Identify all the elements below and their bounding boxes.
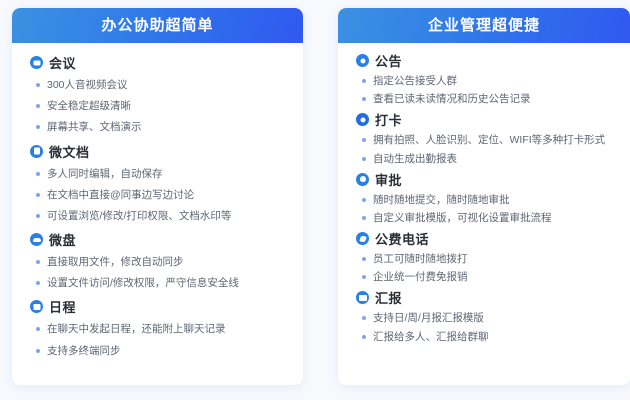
list-item-text: 查看已读未读情况和历史公告记录 bbox=[373, 92, 531, 106]
list-item-text: 在聊天中发起日程，还能附上聊天记录 bbox=[47, 322, 226, 336]
group-label: 微盘 bbox=[49, 230, 76, 249]
list-item-text: 自定义审批模版，可视化设置审批流程 bbox=[373, 211, 552, 225]
feature-group-clock-in: 打卡 拥有拍照、人脸识别、定位、WIFI等多种打卡形式 自动生成出勤报表 bbox=[356, 110, 620, 165]
list-item: 多人同时编辑，自动保存 bbox=[36, 167, 293, 181]
group-title: 审批 bbox=[356, 170, 620, 189]
cloud-icon bbox=[30, 233, 43, 246]
list-item-text: 300人音视频会议 bbox=[47, 78, 128, 92]
list-item: 员工可随时随地拨打 bbox=[362, 252, 620, 266]
list-item: 在聊天中发起日程，还能附上聊天记录 bbox=[36, 322, 293, 336]
bullet-icon bbox=[362, 97, 366, 101]
bullet-icon bbox=[362, 157, 366, 161]
card-header-title: 企业管理超便捷 bbox=[338, 8, 630, 43]
feature-list: 支持日/周/月报汇报模版 汇报给多人、汇报给群聊 bbox=[356, 311, 620, 343]
feature-group-schedule: 日程 在聊天中发起日程，还能附上聊天记录 支持多终端同步 bbox=[30, 297, 293, 357]
list-item-text: 直接取用文件，修改自动同步 bbox=[47, 255, 184, 269]
list-item: 指定公告接受人群 bbox=[362, 74, 620, 88]
card-header-title: 办公协助超简单 bbox=[12, 8, 303, 43]
list-item-text: 安全稳定超级清晰 bbox=[47, 99, 131, 113]
bullet-icon bbox=[36, 193, 40, 197]
list-item: 在文档中直接@同事边写边讨论 bbox=[36, 188, 293, 202]
bullet-icon bbox=[36, 214, 40, 218]
group-title: 汇报 bbox=[356, 288, 620, 307]
feature-group-announcement: 公告 指定公告接受人群 查看已读未读情况和历史公告记录 bbox=[356, 51, 620, 106]
feature-list: 拥有拍照、人脸识别、定位、WIFI等多种打卡形式 自动生成出勤报表 bbox=[356, 133, 620, 165]
list-item: 300人音视频会议 bbox=[36, 78, 293, 92]
group-title: 日程 bbox=[30, 297, 293, 316]
document-icon bbox=[30, 145, 43, 158]
bullet-icon bbox=[36, 172, 40, 176]
phone-icon bbox=[356, 232, 369, 245]
group-label: 审批 bbox=[375, 170, 402, 189]
bullet-icon bbox=[362, 216, 366, 220]
group-label: 公告 bbox=[375, 51, 402, 70]
bullet-icon bbox=[36, 104, 40, 108]
feature-group-document: 微文档 多人同时编辑，自动保存 在文档中直接@同事边写边讨论 可设置浏览/修改/… bbox=[30, 142, 293, 224]
feature-list: 指定公告接受人群 查看已读未读情况和历史公告记录 bbox=[356, 74, 620, 106]
list-item: 查看已读未读情况和历史公告记录 bbox=[362, 92, 620, 106]
group-title: 微文档 bbox=[30, 142, 293, 161]
list-item: 设置文件访问/修改权限，严守信息安全线 bbox=[36, 276, 293, 290]
card-body: 会议 300人音视频会议 安全稳定超级清晰 屏幕共享、文档演示 微文档 多人同时… bbox=[12, 43, 303, 385]
bullet-icon bbox=[36, 327, 40, 331]
list-item: 汇报给多人、汇报给群聊 bbox=[362, 330, 620, 344]
group-title: 会议 bbox=[30, 53, 293, 72]
bullet-icon bbox=[362, 316, 366, 320]
feature-list: 多人同时编辑，自动保存 在文档中直接@同事边写边讨论 可设置浏览/修改/打印权限… bbox=[30, 167, 293, 224]
group-label: 汇报 bbox=[375, 288, 402, 307]
approval-icon bbox=[356, 173, 369, 186]
bullet-icon bbox=[362, 79, 366, 83]
list-item: 可设置浏览/修改/打印权限、文档水印等 bbox=[36, 209, 293, 223]
list-item: 企业统一付费免报销 bbox=[362, 270, 620, 284]
meeting-icon bbox=[30, 56, 43, 69]
bullet-icon bbox=[36, 83, 40, 87]
list-item: 自动生成出勤报表 bbox=[362, 152, 620, 166]
report-icon bbox=[356, 291, 369, 304]
feature-list: 直接取用文件，修改自动同步 设置文件访问/修改权限，严守信息安全线 bbox=[30, 255, 293, 290]
feature-list: 300人音视频会议 安全稳定超级清晰 屏幕共享、文档演示 bbox=[30, 78, 293, 135]
list-item: 支持日/周/月报汇报模版 bbox=[362, 311, 620, 325]
feature-group-company-phone: 公费电话 员工可随时随地拨打 企业统一付费免报销 bbox=[356, 229, 620, 284]
feature-group-meeting: 会议 300人音视频会议 安全稳定超级清晰 屏幕共享、文档演示 bbox=[30, 53, 293, 135]
list-item: 直接取用文件，修改自动同步 bbox=[36, 255, 293, 269]
group-title: 打卡 bbox=[356, 110, 620, 129]
card-office-collaboration: 办公协助超简单 会议 300人音视频会议 安全稳定超级清晰 屏幕共享、文档演示 … bbox=[12, 8, 303, 385]
bullet-icon bbox=[36, 281, 40, 285]
feature-group-cloud-disk: 微盘 直接取用文件，修改自动同步 设置文件访问/修改权限，严守信息安全线 bbox=[30, 230, 293, 290]
group-title: 公告 bbox=[356, 51, 620, 70]
group-label: 公费电话 bbox=[375, 229, 429, 248]
list-item-text: 屏幕共享、文档演示 bbox=[47, 120, 142, 134]
bullet-icon bbox=[362, 198, 366, 202]
bullet-icon bbox=[362, 257, 366, 261]
bullet-icon bbox=[362, 275, 366, 279]
list-item-text: 支持多终端同步 bbox=[47, 344, 121, 358]
list-item-text: 支持日/周/月报汇报模版 bbox=[373, 311, 484, 325]
feature-list: 在聊天中发起日程，还能附上聊天记录 支持多终端同步 bbox=[30, 322, 293, 357]
list-item: 自定义审批模版，可视化设置审批流程 bbox=[362, 211, 620, 225]
list-item: 支持多终端同步 bbox=[36, 344, 293, 358]
feature-cards-board: 办公协助超简单 会议 300人音视频会议 安全稳定超级清晰 屏幕共享、文档演示 … bbox=[0, 0, 630, 400]
list-item-text: 自动生成出勤报表 bbox=[373, 152, 457, 166]
list-item-text: 汇报给多人、汇报给群聊 bbox=[373, 330, 489, 344]
bullet-icon bbox=[36, 349, 40, 353]
list-item-text: 员工可随时随地拨打 bbox=[373, 252, 468, 266]
bullet-icon bbox=[362, 138, 366, 142]
feature-group-report: 汇报 支持日/周/月报汇报模版 汇报给多人、汇报给群聊 bbox=[356, 288, 620, 343]
group-label: 打卡 bbox=[375, 110, 402, 129]
bullet-icon bbox=[36, 125, 40, 129]
list-item-text: 拥有拍照、人脸识别、定位、WIFI等多种打卡形式 bbox=[373, 133, 605, 147]
list-item: 屏幕共享、文档演示 bbox=[36, 120, 293, 134]
feature-list: 随时随地提交，随时随地审批 自定义审批模版，可视化设置审批流程 bbox=[356, 193, 620, 225]
group-label: 微文档 bbox=[49, 142, 90, 161]
feature-list: 员工可随时随地拨打 企业统一付费免报销 bbox=[356, 252, 620, 284]
list-item-text: 随时随地提交，随时随地审批 bbox=[373, 193, 510, 207]
list-item: 安全稳定超级清晰 bbox=[36, 99, 293, 113]
group-label: 日程 bbox=[49, 297, 76, 316]
group-label: 会议 bbox=[49, 53, 76, 72]
list-item: 随时随地提交，随时随地审批 bbox=[362, 193, 620, 207]
calendar-icon bbox=[30, 300, 43, 313]
group-title: 微盘 bbox=[30, 230, 293, 249]
bullet-icon bbox=[362, 335, 366, 339]
list-item-text: 多人同时编辑，自动保存 bbox=[47, 167, 163, 181]
list-item: 拥有拍照、人脸识别、定位、WIFI等多种打卡形式 bbox=[362, 133, 620, 147]
feature-group-approval: 审批 随时随地提交，随时随地审批 自定义审批模版，可视化设置审批流程 bbox=[356, 170, 620, 225]
clock-in-icon bbox=[356, 113, 369, 126]
list-item-text: 指定公告接受人群 bbox=[373, 74, 457, 88]
bullet-icon bbox=[36, 260, 40, 264]
card-body: 公告 指定公告接受人群 查看已读未读情况和历史公告记录 打卡 拥有拍照、人脸识别… bbox=[338, 43, 630, 385]
list-item-text: 可设置浏览/修改/打印权限、文档水印等 bbox=[47, 209, 231, 223]
card-enterprise-management: 企业管理超便捷 公告 指定公告接受人群 查看已读未读情况和历史公告记录 打卡 bbox=[338, 8, 630, 385]
announcement-icon bbox=[356, 54, 369, 67]
list-item-text: 在文档中直接@同事边写边讨论 bbox=[47, 188, 194, 202]
list-item-text: 企业统一付费免报销 bbox=[373, 270, 468, 284]
group-title: 公费电话 bbox=[356, 229, 620, 248]
list-item-text: 设置文件访问/修改权限，严守信息安全线 bbox=[47, 276, 239, 290]
